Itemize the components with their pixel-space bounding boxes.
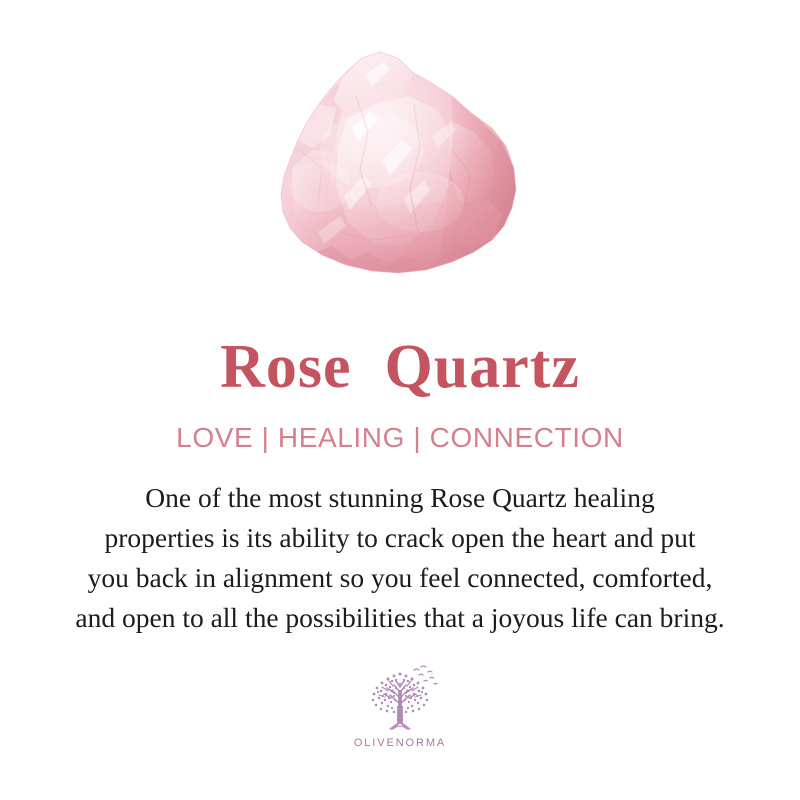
description-line: One of the most stunning Rose Quartz hea… [20, 478, 780, 518]
tree-of-life-icon [358, 664, 442, 736]
hero-image-stage [0, 0, 800, 300]
page-title: Rose Quartz [220, 336, 580, 398]
keyword-subtitle: LOVE | HEALING | CONNECTION [176, 424, 624, 452]
brand-logo: OLIVENORMA [354, 664, 446, 749]
description-line: and open to all the possibilities that a… [20, 598, 780, 638]
rose-quartz-crystal-icon [0, 0, 800, 300]
description-text: One of the most stunning Rose Quartz hea… [20, 478, 780, 638]
description-line: you back in alignment so you feel connec… [20, 558, 780, 598]
product-info-card: Rose Quartz LOVE | HEALING | CONNECTION … [0, 0, 800, 800]
description-line: properties is its ability to crack open … [20, 518, 780, 558]
brand-wordmark: OLIVENORMA [354, 737, 446, 749]
